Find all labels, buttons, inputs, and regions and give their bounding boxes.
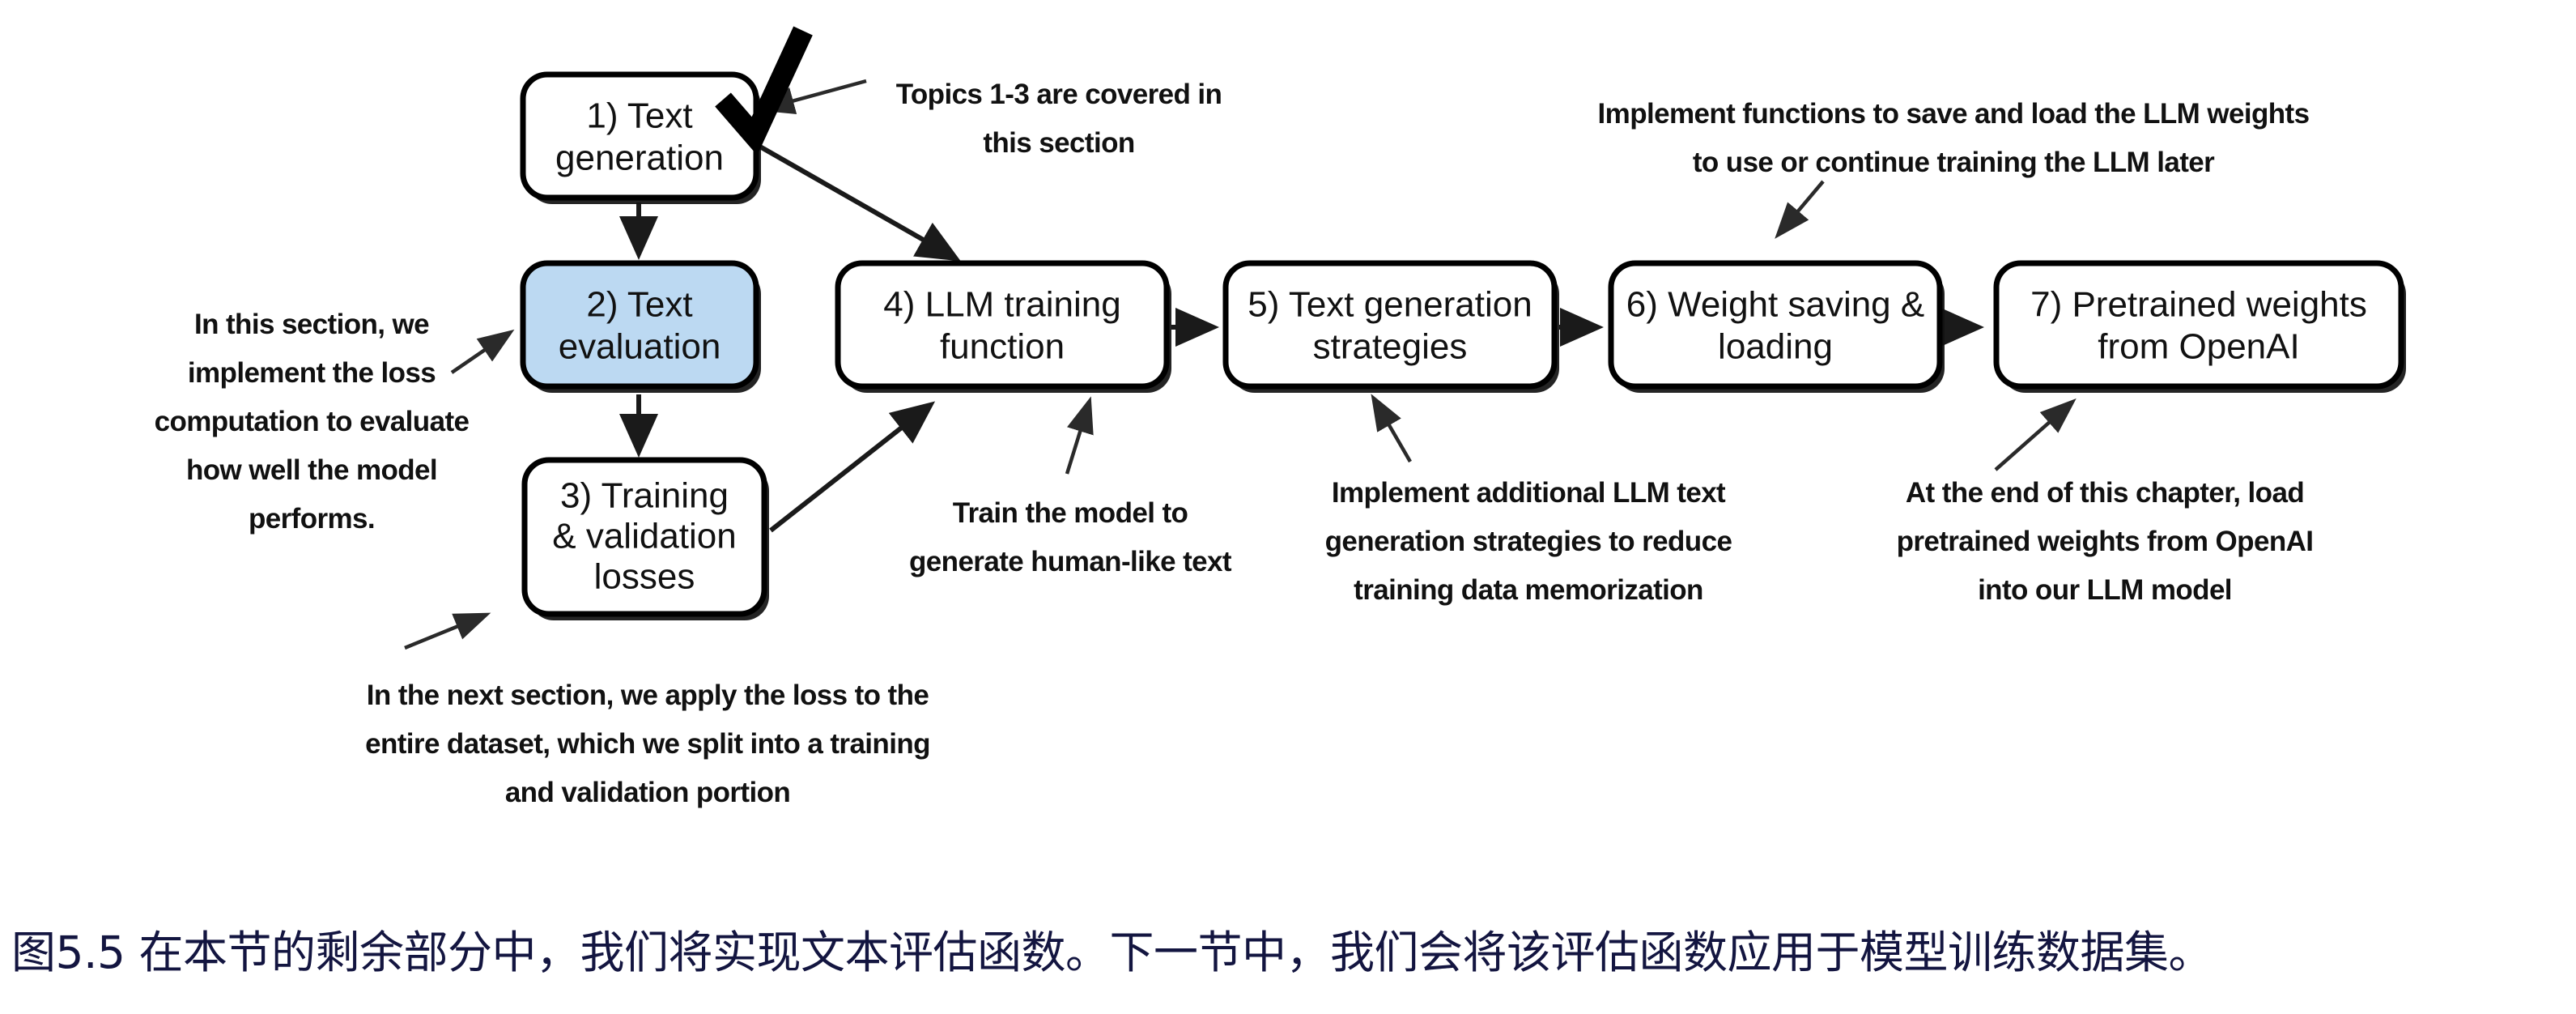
annotation-loss-computation: In this section, we implement the loss c… xyxy=(155,309,470,535)
node-text-generation-strategies[interactable]: 5) Text generation strategies xyxy=(1226,263,1559,393)
node-label-line1: 5) Text generation xyxy=(1248,285,1532,325)
annotation-line: Topics 1-3 are covered in xyxy=(896,79,1222,110)
annotation-line: In this section, we xyxy=(194,309,429,340)
node-label-line1: 7) Pretrained weights xyxy=(2030,285,2367,325)
annotation-topics: Topics 1-3 are covered in this section xyxy=(896,79,1222,159)
leader-train-to-n4 xyxy=(1067,403,1089,474)
node-label-line2: function xyxy=(940,327,1065,367)
node-label-line1: 3) Training xyxy=(560,476,729,516)
node-label-line3: losses xyxy=(594,557,695,597)
annotation-line: this section xyxy=(983,127,1134,159)
annotation-line: Implement functions to save and load the… xyxy=(1598,98,2310,130)
annotation-next-section: In the next section, we apply the loss t… xyxy=(365,680,930,808)
node-training-validation-losses[interactable]: 3) Training & validation losses xyxy=(525,460,769,620)
leader-openai-to-n7 xyxy=(1996,403,2071,470)
node-label-line2: loading xyxy=(1718,327,1833,367)
annotation-line: training data memorization xyxy=(1354,574,1703,606)
node-label-line1: 1) Text xyxy=(586,96,692,136)
leader-strategies-to-n5 xyxy=(1375,400,1410,462)
leader-weights-to-n6 xyxy=(1779,181,1823,233)
node-label-line2: generation xyxy=(555,138,724,178)
workflow-diagram: 1) Text generation 2) Text evaluation 3)… xyxy=(0,0,2576,891)
leader-loss-to-n2 xyxy=(452,334,508,373)
leader-nextsection-to-n3 xyxy=(405,616,484,648)
node-label-line2: evaluation xyxy=(559,327,721,367)
annotation-train-model: Train the model to generate human-like t… xyxy=(909,497,1232,577)
annotation-line: implement the loss xyxy=(188,357,436,389)
node-label-line1: 4) LLM training xyxy=(883,285,1120,325)
node-label-line1: 2) Text xyxy=(586,285,692,325)
node-label-line2: strategies xyxy=(1313,327,1468,367)
annotation-generation-strategies: Implement additional LLM text generation… xyxy=(1325,477,1732,606)
node-label-line2: from OpenAI xyxy=(2098,327,2299,367)
annotation-line: pretrained weights from OpenAI xyxy=(1897,526,2314,557)
node-llm-training-function[interactable]: 4) LLM training function xyxy=(838,263,1171,393)
figure-caption-text: 图5.5 在本节的剩余部分中，我们将实现文本评估函数。下一节中，我们会将该评估函… xyxy=(11,928,2213,978)
annotation-line: At the end of this chapter, load xyxy=(1906,477,2304,509)
annotation-line: entire dataset, which we split into a tr… xyxy=(365,728,930,760)
annotation-line: computation to evaluate xyxy=(155,406,470,437)
annotation-line: to use or continue training the LLM late… xyxy=(1693,147,2215,178)
annotation-line: and validation portion xyxy=(505,777,790,808)
figure-caption: 图5.5 在本节的剩余部分中，我们将实现文本评估函数。下一节中，我们会将该评估函… xyxy=(0,914,2576,991)
node-label-line1: 6) Weight saving & xyxy=(1626,285,1924,325)
annotation-openai-weights: At the end of this chapter, load pretrai… xyxy=(1897,477,2314,606)
edge-n1-to-n4 xyxy=(753,143,954,258)
edge-n3-to-n4 xyxy=(771,406,929,530)
annotation-line: generation strategies to reduce xyxy=(1325,526,1732,557)
figure-page: 1) Text generation 2) Text evaluation 3)… xyxy=(0,0,2576,1014)
annotation-line: performs. xyxy=(249,503,375,535)
annotation-weight-save-load: Implement functions to save and load the… xyxy=(1598,98,2310,178)
annotation-line: how well the model xyxy=(186,454,437,486)
annotation-line: In the next section, we apply the loss t… xyxy=(367,680,929,711)
node-label-line2: & validation xyxy=(552,517,736,556)
node-pretrained-weights-openai[interactable]: 7) Pretrained weights from OpenAI xyxy=(1996,263,2406,393)
annotation-line: Implement additional LLM text xyxy=(1332,477,1726,509)
node-text-generation[interactable]: 1) Text generation xyxy=(523,75,761,204)
annotation-line: Train the model to xyxy=(953,497,1188,529)
node-text-evaluation[interactable]: 2) Text evaluation xyxy=(523,263,761,393)
node-weight-saving-loading[interactable]: 6) Weight saving & loading xyxy=(1611,263,1945,393)
annotation-line: into our LLM model xyxy=(1978,574,2232,606)
annotation-line: generate human-like text xyxy=(909,546,1232,577)
